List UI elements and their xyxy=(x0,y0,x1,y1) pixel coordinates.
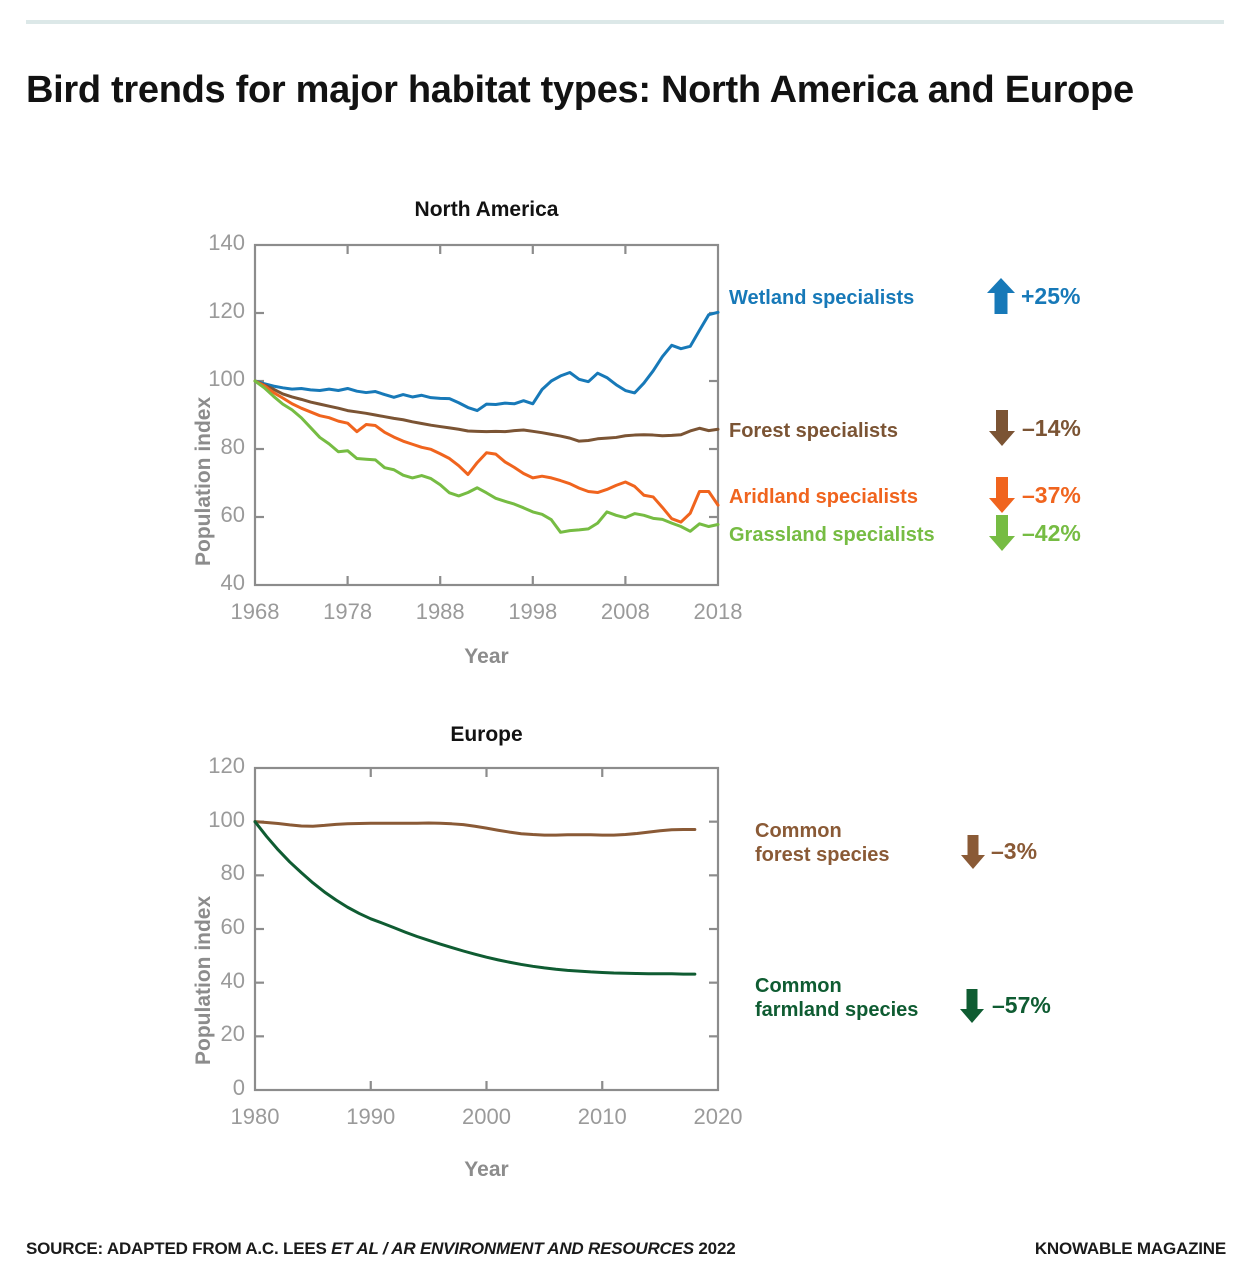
footer-source-citation: ET AL / AR ENVIRONMENT AND RESOURCES xyxy=(331,1239,694,1258)
legend-label-forest-eu-line2: forest species xyxy=(755,844,890,866)
x-axis-label-europe: Year xyxy=(255,1158,718,1182)
chart-title-north-america: North America xyxy=(255,198,718,222)
y-tick-label: 140 xyxy=(177,230,245,256)
chart-title-europe: Europe xyxy=(255,723,718,747)
x-axis-label-north-america: Year xyxy=(255,645,718,669)
arrow-down-icon-forest-na xyxy=(988,409,1016,452)
y-tick-label: 0 xyxy=(177,1075,245,1101)
y-tick-label: 100 xyxy=(177,366,245,392)
footer-source: SOURCE: ADAPTED FROM A.C. LEES ET AL / A… xyxy=(26,1239,735,1259)
series-line xyxy=(255,822,695,974)
x-tick-label: 1988 xyxy=(390,599,490,625)
arrow-down-icon-grassland xyxy=(988,514,1016,557)
y-tick-label: 100 xyxy=(177,807,245,833)
legend-label-farmland-eu[interactable]: Common farmland species xyxy=(755,975,918,1022)
x-tick-label: 2020 xyxy=(668,1104,768,1130)
legend-label-wetland[interactable]: Wetland specialists xyxy=(729,287,914,311)
page-title: Bird trends for major habitat types: Nor… xyxy=(26,69,1206,112)
arrow-down-icon-aridland xyxy=(988,476,1016,519)
legend-percent-grassland: –42% xyxy=(1022,520,1081,547)
y-tick-label: 80 xyxy=(177,860,245,886)
x-tick-label: 2010 xyxy=(552,1104,652,1130)
series-line xyxy=(255,822,695,835)
x-tick-label: 1980 xyxy=(205,1104,305,1130)
plot-area-europe xyxy=(255,768,718,1090)
arrow-down-icon-farmland-eu xyxy=(959,988,985,1029)
y-tick-label: 40 xyxy=(177,968,245,994)
series-line xyxy=(255,312,718,410)
legend-label-farmland-eu-line1: Common xyxy=(755,975,842,997)
x-tick-label: 1998 xyxy=(483,599,583,625)
y-tick-label: 80 xyxy=(177,434,245,460)
x-tick-label: 2018 xyxy=(668,599,768,625)
y-tick-label: 20 xyxy=(177,1021,245,1047)
y-tick-label: 60 xyxy=(177,914,245,940)
top-divider-rule xyxy=(26,20,1224,24)
x-tick-label: 1968 xyxy=(205,599,305,625)
series-line xyxy=(255,381,718,522)
legend-percent-forest-eu: –3% xyxy=(991,838,1037,865)
x-tick-label: 1990 xyxy=(321,1104,421,1130)
arrow-down-icon-forest-eu xyxy=(960,834,986,875)
legend-percent-aridland: –37% xyxy=(1022,482,1081,509)
plot-frame xyxy=(255,768,718,1090)
legend-label-aridland[interactable]: Aridland specialists xyxy=(729,486,918,510)
footer-source-suffix: 2022 xyxy=(694,1239,736,1258)
x-tick-label: 2000 xyxy=(437,1104,537,1130)
y-axis-label-north-america: Population index xyxy=(192,397,216,566)
legend-label-grassland[interactable]: Grassland specialists xyxy=(729,524,935,548)
y-tick-label: 120 xyxy=(177,298,245,324)
y-tick-label: 60 xyxy=(177,502,245,528)
legend-label-forest-eu[interactable]: Common forest species xyxy=(755,820,890,867)
plot-area-north-america xyxy=(255,245,718,585)
y-tick-label: 40 xyxy=(177,570,245,596)
legend-label-forest-eu-line1: Common xyxy=(755,820,842,842)
legend-percent-farmland-eu: –57% xyxy=(992,992,1051,1019)
y-tick-label: 120 xyxy=(177,753,245,779)
arrow-up-icon-wetland xyxy=(986,277,1016,320)
legend-label-forest-na[interactable]: Forest specialists xyxy=(729,420,898,444)
legend-percent-wetland: +25% xyxy=(1021,283,1080,310)
footer-brand: KNOWABLE MAGAZINE xyxy=(1035,1239,1226,1259)
plot-frame xyxy=(255,245,718,585)
legend-percent-forest-na: –14% xyxy=(1022,415,1081,442)
legend-label-farmland-eu-line2: farmland species xyxy=(755,999,918,1021)
footer-source-prefix: SOURCE: ADAPTED FROM A.C. LEES xyxy=(26,1239,331,1258)
x-tick-label: 2008 xyxy=(575,599,675,625)
x-tick-label: 1978 xyxy=(298,599,398,625)
